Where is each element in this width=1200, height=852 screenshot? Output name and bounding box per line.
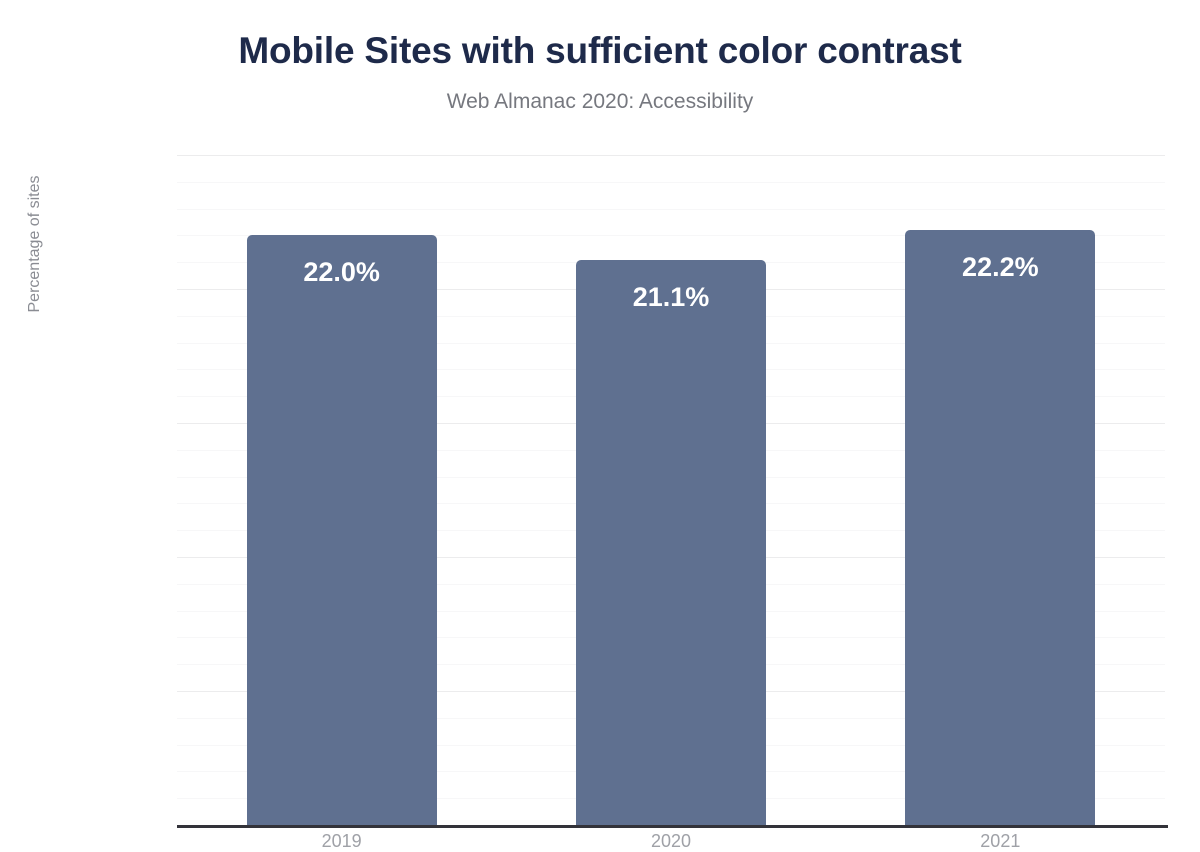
chart-title: Mobile Sites with sufficient color contr…: [0, 30, 1200, 73]
gridline: [177, 209, 1165, 210]
bar[interactable]: 21.1%: [576, 260, 766, 825]
bar[interactable]: 22.2%: [905, 230, 1095, 825]
x-axis-tick-label: 2021: [900, 831, 1100, 852]
gridline: [177, 155, 1165, 156]
plot-area: 0.0%5.0%10.0%15.0%20.0%25.0% 22.0%21.1%2…: [177, 155, 1165, 670]
x-axis-tick-label: 2020: [571, 831, 771, 852]
bar[interactable]: 22.0%: [247, 235, 437, 825]
bar-value-label: 22.2%: [905, 252, 1095, 283]
bar-value-label: 21.1%: [576, 282, 766, 313]
x-axis-line: [177, 825, 1168, 828]
y-axis-title: Percentage of sites: [24, 0, 46, 524]
chart-figure: Mobile Sites with sufficient color contr…: [0, 0, 1200, 742]
bar-value-label: 22.0%: [247, 257, 437, 288]
gridline: [177, 182, 1165, 183]
chart-subtitle: Web Almanac 2020: Accessibility: [0, 89, 1200, 114]
x-axis-tick-label: 2019: [242, 831, 442, 852]
